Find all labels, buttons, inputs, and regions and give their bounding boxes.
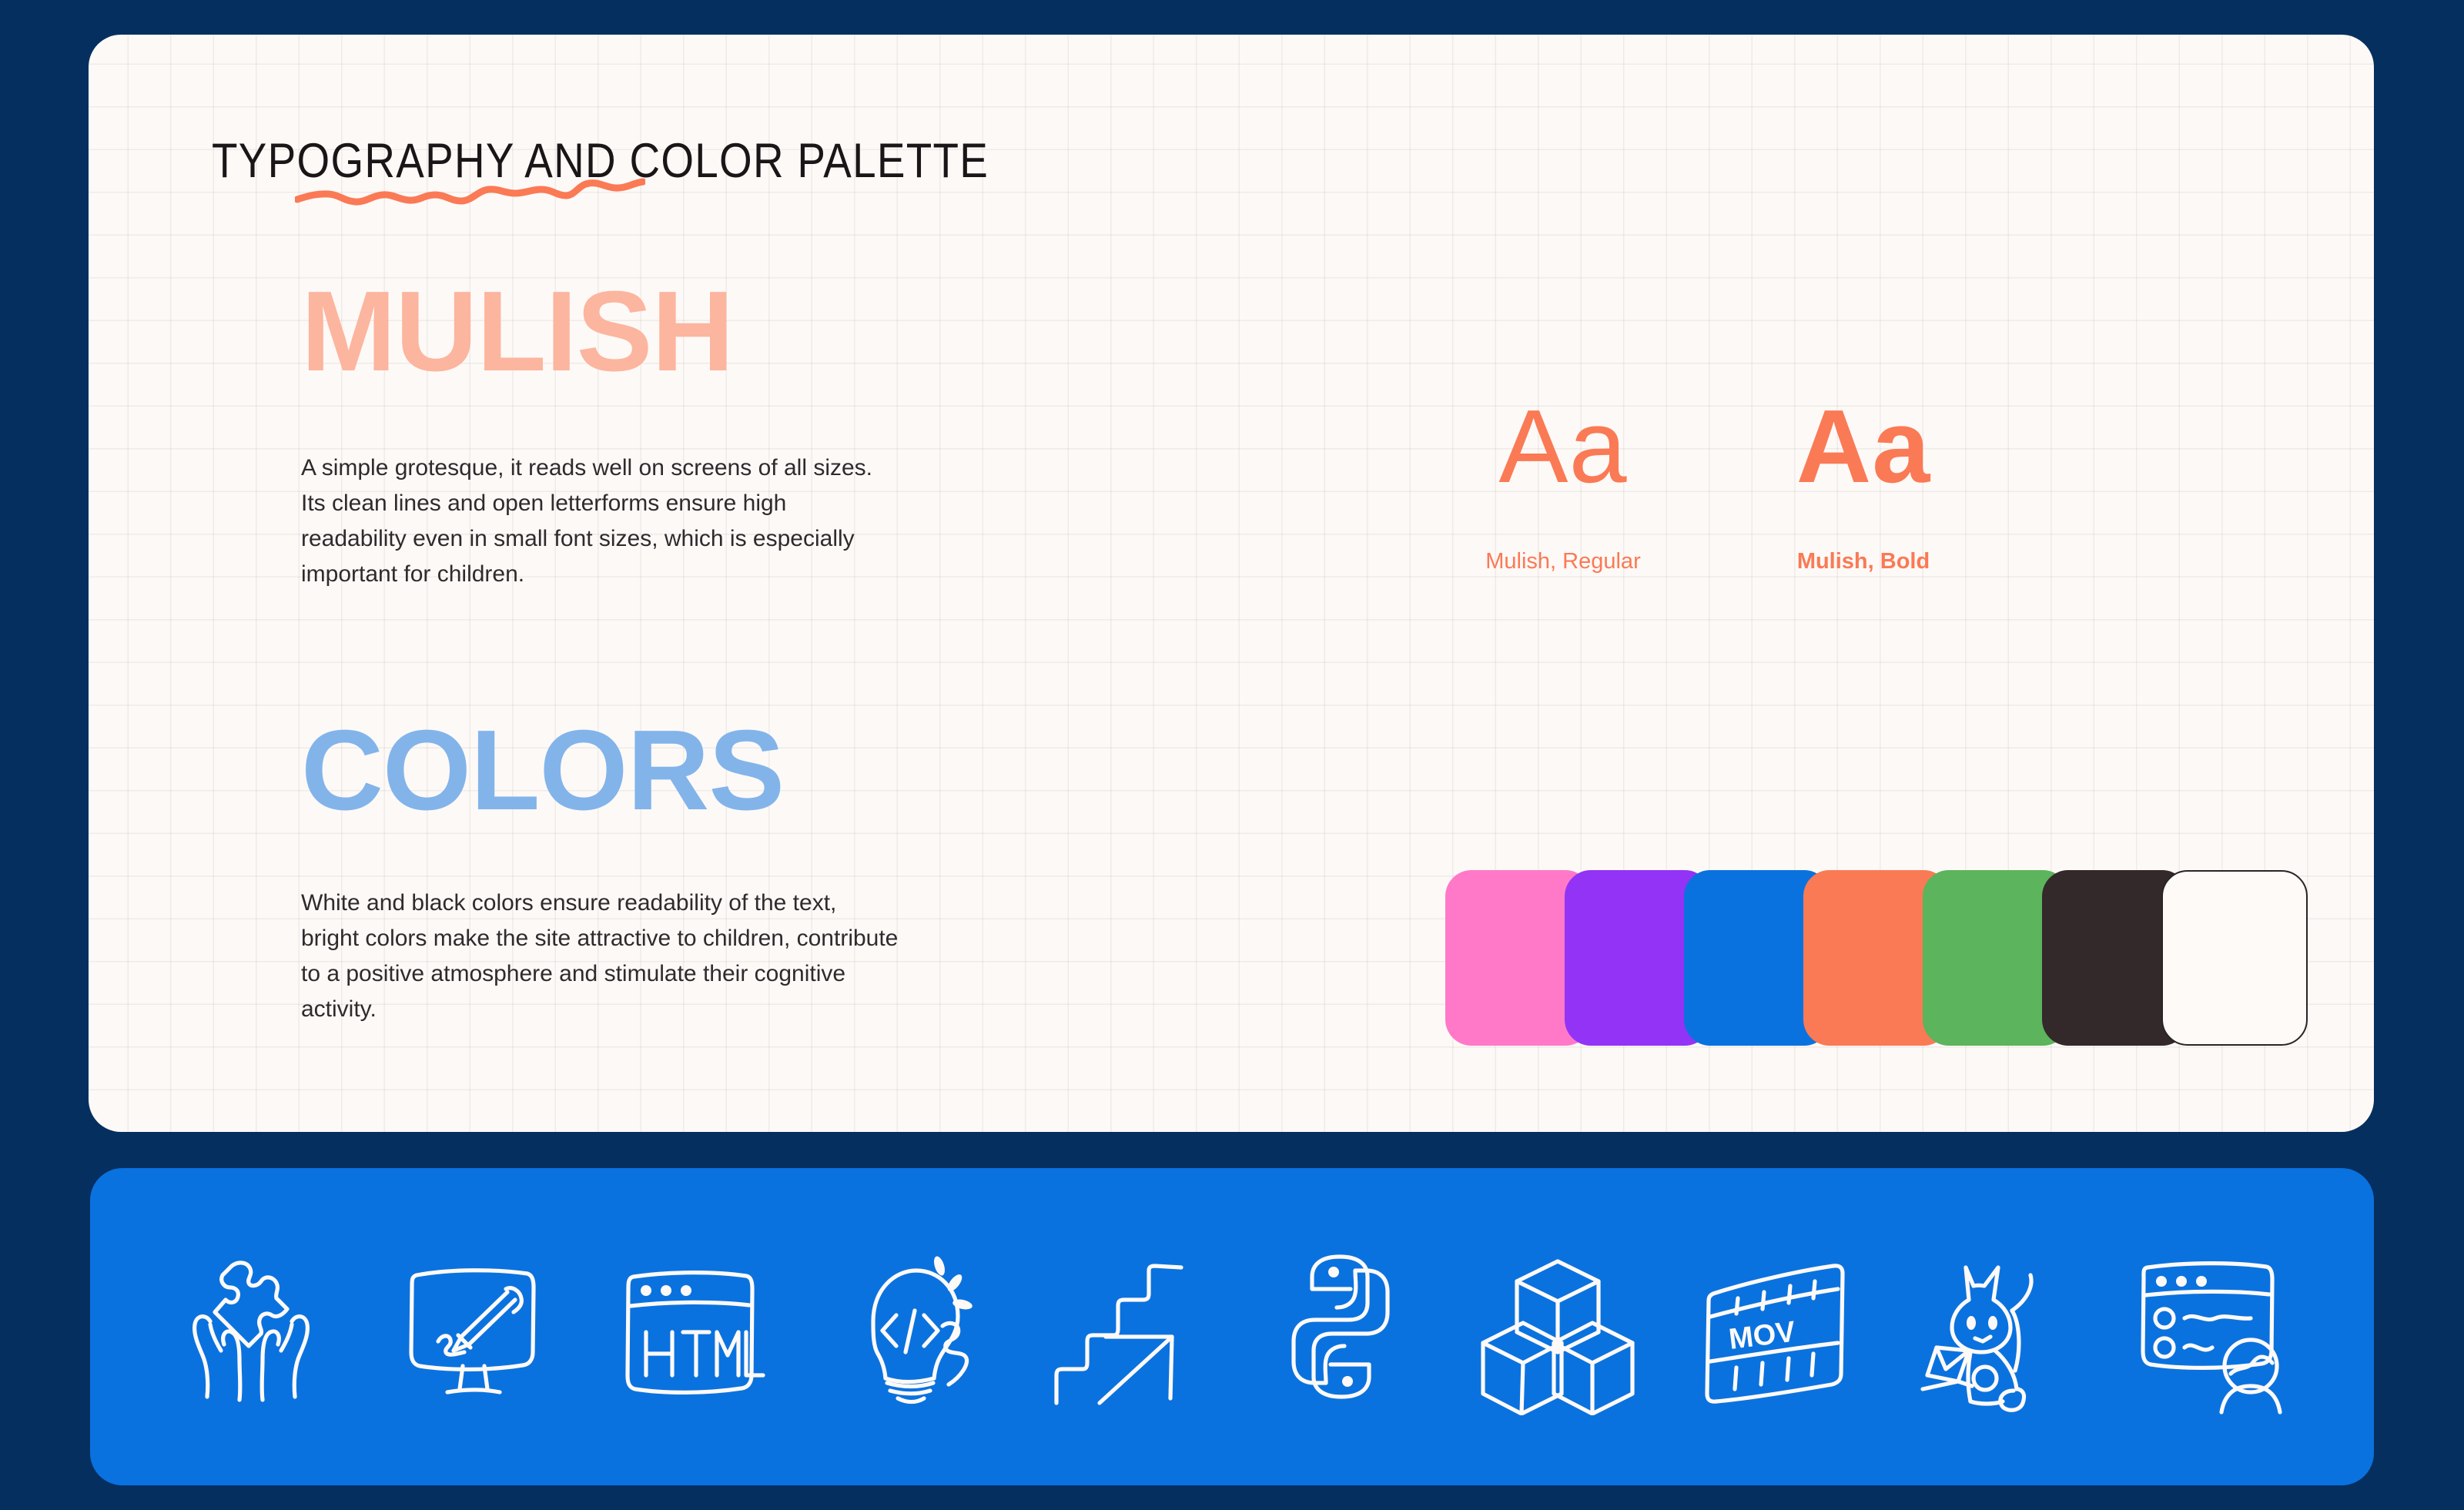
python-logo-icon[interactable] bbox=[1260, 1238, 1421, 1415]
monitor-pencil-icon[interactable] bbox=[392, 1238, 554, 1415]
colors-heading: COLORS bbox=[301, 714, 784, 828]
specimen-bold: Aa Mulish, Bold bbox=[1744, 389, 1983, 574]
specimen-glyph-regular: Aa bbox=[1444, 389, 1682, 504]
mulish-heading: MULISH bbox=[301, 275, 733, 389]
technology-icon-bar: MOV bbox=[90, 1168, 2374, 1485]
film-strip-mov-icon[interactable]: MOV bbox=[1693, 1238, 1855, 1415]
specimen-label-regular: Mulish, Regular bbox=[1444, 549, 1682, 574]
stairs-arrow-up-icon[interactable] bbox=[1043, 1238, 1204, 1415]
lightbulb-code-icon[interactable] bbox=[825, 1238, 987, 1415]
slide-root: TYPOGRAPHY AND COLOR PALETTE MULISH A si… bbox=[0, 0, 2464, 1510]
cubes-blocks-icon[interactable] bbox=[1477, 1238, 1639, 1415]
specimen-label-bold: Mulish, Bold bbox=[1744, 549, 1983, 574]
mulish-description: A simple grotesque, it reads well on scr… bbox=[301, 450, 1071, 592]
specimen-glyph-bold: Aa bbox=[1744, 389, 1983, 504]
title-underline-squiggle bbox=[295, 175, 645, 210]
hands-puzzle-piece-icon[interactable] bbox=[175, 1238, 336, 1415]
color-swatch-white[interactable] bbox=[2161, 870, 2308, 1046]
cat-laptop-icon[interactable] bbox=[1910, 1238, 2072, 1415]
specimen-regular: Aa Mulish, Regular bbox=[1444, 389, 1682, 574]
content-card: TYPOGRAPHY AND COLOR PALETTE MULISH A si… bbox=[89, 35, 2374, 1132]
color-swatch-row bbox=[1445, 870, 2308, 1046]
colors-description: White and black colors ensure readabilit… bbox=[301, 886, 1117, 1027]
browser-html-icon[interactable] bbox=[609, 1238, 771, 1415]
browser-person-icon[interactable] bbox=[2128, 1238, 2289, 1415]
